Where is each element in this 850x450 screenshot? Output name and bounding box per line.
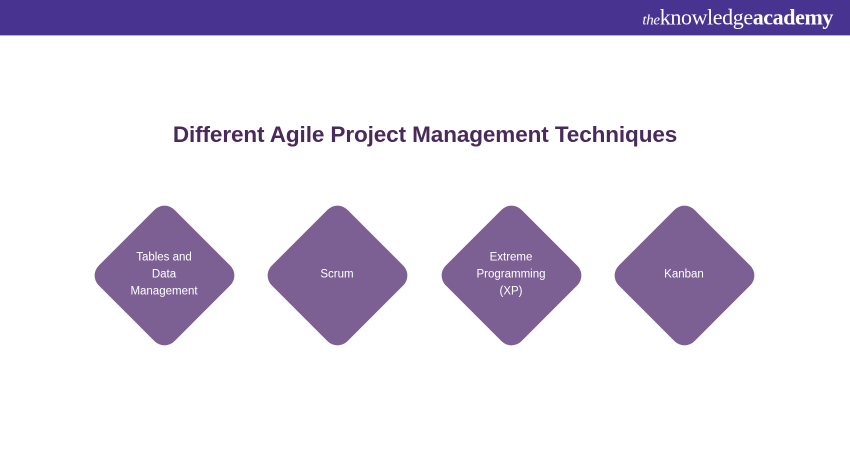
technique-diamond-row: Tables and Data Management Scrum Extreme…	[0, 199, 850, 351]
diamond-label: Tables and Data Management	[96, 250, 232, 301]
brand-logo-knowledge: knowledge	[660, 4, 753, 29]
technique-diamond-tables-and-data-management[interactable]: Tables and Data Management	[88, 199, 240, 351]
technique-diamond-kanban[interactable]: Kanban	[608, 199, 760, 351]
page-title: Different Agile Project Management Techn…	[0, 122, 850, 148]
brand-logo-academy: academy	[753, 4, 833, 29]
technique-diamond-extreme-programming[interactable]: Extreme Programming (XP)	[435, 199, 587, 351]
technique-diamond-scrum[interactable]: Scrum	[261, 199, 413, 351]
brand-logo[interactable]: theknowledgeacademy	[642, 6, 833, 28]
diamond-label: Extreme Programming (XP)	[443, 250, 579, 301]
infographic-page: theknowledgeacademy Different Agile Proj…	[0, 0, 850, 450]
diamond-label: Scrum	[269, 267, 405, 284]
header-bar: theknowledgeacademy	[0, 0, 850, 36]
brand-logo-the: the	[642, 12, 659, 28]
diamond-label: Kanban	[616, 267, 752, 284]
